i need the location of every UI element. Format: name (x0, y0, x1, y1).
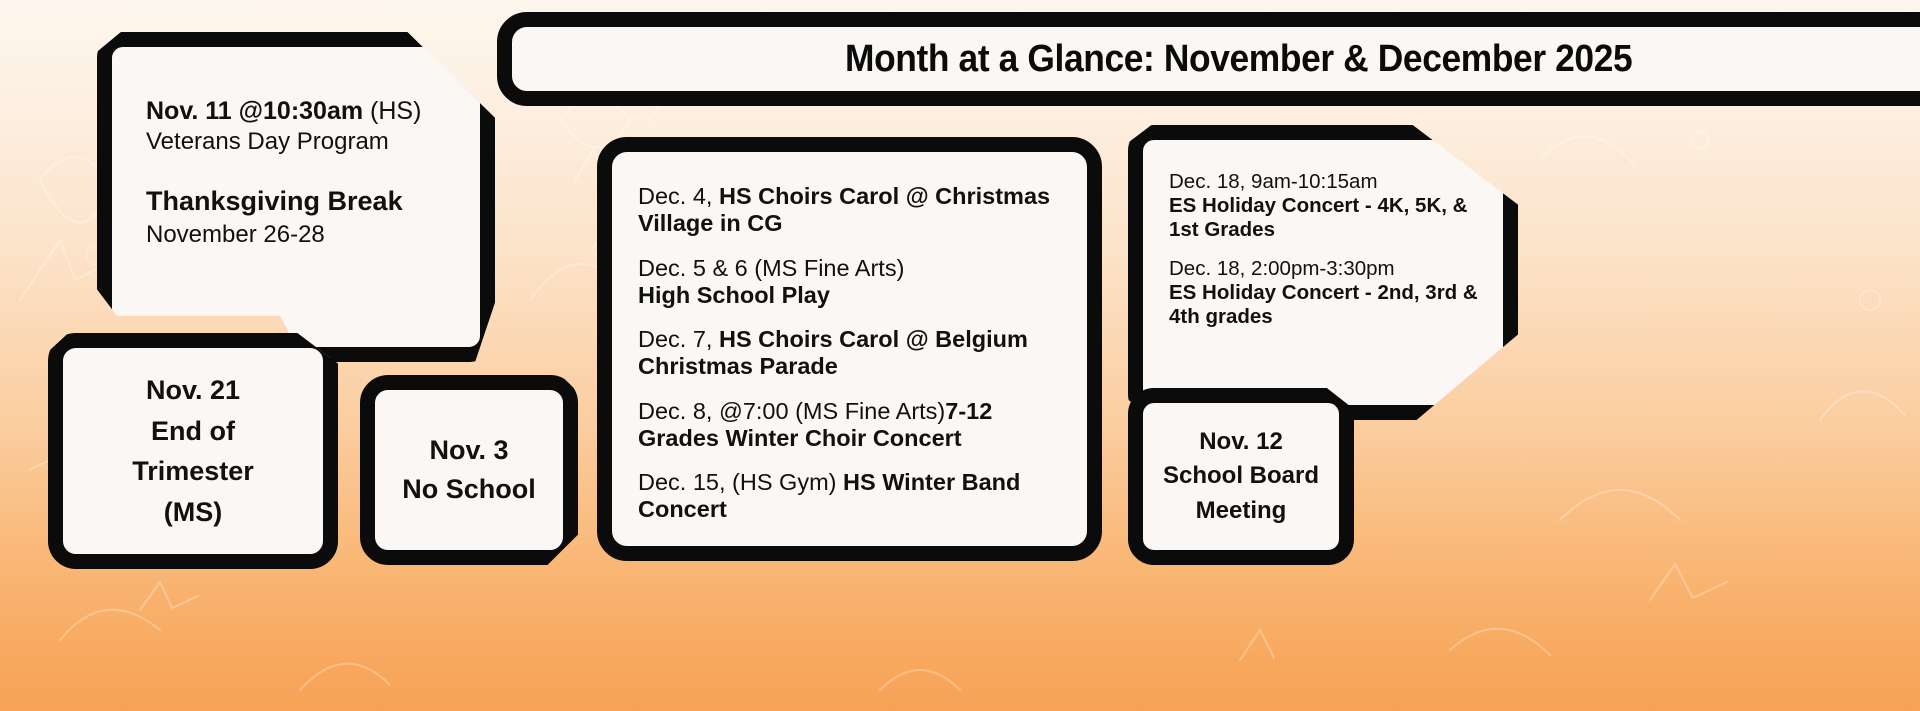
nov21-line-end-of: End of (77, 411, 309, 452)
end-of-trimester-card: Nov. 21 End of Trimester (MS) (48, 333, 338, 569)
list-item: Dec. 5 & 6 (MS Fine Arts) High School Pl… (638, 255, 1071, 310)
nov21-line-ms: (MS) (77, 492, 309, 533)
nov3-label: No School (387, 470, 551, 509)
list-item: Dec. 7, HS Choirs Carol @ Belgium Christ… (638, 326, 1071, 381)
december-events-card: Dec. 4, HS Choirs Carol @ Christmas Vill… (597, 137, 1102, 561)
thanksgiving-break-label: Thanksgiving Break (146, 186, 458, 217)
es-holiday-concerts-card: Dec. 18, 9am-10:15am ES Holiday Concert … (1128, 125, 1518, 420)
nov3-date: Nov. 3 (387, 431, 551, 470)
veterans-day-and-thanksgiving-card: Nov. 11 @10:30am (HS) Veterans Day Progr… (97, 32, 495, 362)
veterans-day-program-label: Veterans Day Program (146, 128, 458, 156)
list-item: Dec. 4, HS Choirs Carol @ Christmas Vill… (638, 183, 1071, 238)
list-item: Dec. 15, (HS Gym) HS Winter Band Concert (638, 469, 1071, 524)
poster-title-banner: Month at a Glance: November & December 2… (497, 12, 1920, 106)
nov12-date: Nov. 12 (1153, 425, 1329, 459)
nov12-line-school-board: School Board (1153, 459, 1329, 493)
nov21-date: Nov. 21 (77, 370, 309, 411)
nov11-date-line: Nov. 11 @10:30am (HS) (146, 97, 458, 126)
list-item: Dec. 18, 9am-10:15am ES Holiday Concert … (1169, 170, 1485, 241)
no-school-card: Nov. 3 No School (360, 375, 578, 565)
nov21-line-trimester: Trimester (77, 451, 309, 492)
list-item: Dec. 8, @7:00 (MS Fine Arts)7-12 Grades … (638, 398, 1071, 453)
nov12-line-meeting: Meeting (1153, 494, 1329, 528)
list-item: Dec. 18, 2:00pm-3:30pm ES Holiday Concer… (1169, 257, 1485, 328)
school-board-meeting-card: Nov. 12 School Board Meeting (1128, 388, 1354, 565)
month-at-a-glance-poster: Month at a Glance: November & December 2… (0, 0, 1920, 711)
page-title: Month at a Glance: November & December 2… (845, 38, 1632, 81)
thanksgiving-break-dates: November 26-28 (146, 221, 458, 249)
